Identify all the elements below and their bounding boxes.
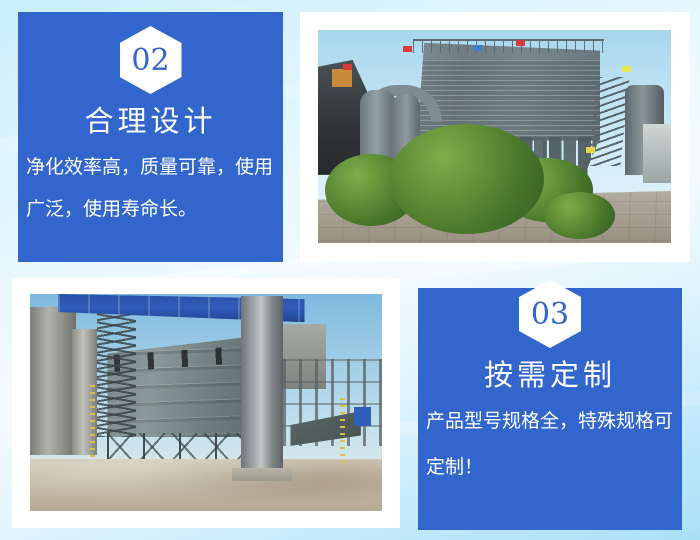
photo-flag xyxy=(516,40,525,46)
card-title: 按需定制 xyxy=(484,352,616,394)
photo-roof-railing xyxy=(413,39,604,54)
promo-banner: 02 合理设计 净化效率高，质量可靠，使用广泛，使用寿命长。 xyxy=(0,0,700,540)
card-description: 净化效率高，质量可靠，使用广泛，使用寿命长。 xyxy=(18,146,283,230)
photo-frame-bottom[interactable]: 布袋除尘器设备实拍 - 厂区内除尘器主体与灰色大烟囱 xyxy=(12,278,400,528)
card-description: 产品型号规格全，特殊规格可定制！ xyxy=(418,398,682,490)
photo-flag xyxy=(343,64,352,70)
photo-tree xyxy=(544,192,615,239)
photo-blue-tarp xyxy=(354,407,372,427)
photo-tree xyxy=(389,124,544,235)
product-photo-baghouse-exterior: 布袋除尘器设备实拍 - 蓝天下的大型袋式除尘器，前景有绿树与混凝土挡墙 xyxy=(318,30,671,243)
hexagon-badge-icon: 02 xyxy=(120,26,182,94)
hexagon-badge-icon: 03 xyxy=(519,280,581,348)
photo-ladder xyxy=(340,398,346,467)
card-title: 合理设计 xyxy=(84,98,216,140)
photo-stack-base xyxy=(232,468,292,481)
badge-number: 02 xyxy=(131,46,169,76)
photo-flag xyxy=(586,147,595,153)
feature-card-02[interactable]: 02 合理设计 净化效率高，质量可靠，使用广泛，使用寿命长。 xyxy=(18,12,283,262)
photo-flag xyxy=(622,66,631,72)
photo-stack-chimney xyxy=(241,296,283,474)
photo-frame-top[interactable]: 布袋除尘器设备实拍 - 蓝天下的大型袋式除尘器，前景有绿树与混凝土挡墙 xyxy=(300,12,690,262)
photo-ladder xyxy=(90,385,96,467)
product-photo-baghouse-plant: 布袋除尘器设备实拍 - 厂区内除尘器主体与灰色大烟囱 xyxy=(30,294,382,511)
photo-ground xyxy=(30,459,382,511)
photo-flag xyxy=(473,45,482,51)
feature-card-03[interactable]: 03 按需定制 产品型号规格全，特殊规格可定制！ xyxy=(418,288,682,530)
badge-number: 03 xyxy=(531,300,569,330)
photo-lattice-tower xyxy=(97,303,136,438)
photo-silo xyxy=(30,307,76,455)
photo-flag xyxy=(403,46,412,52)
photo-right-building xyxy=(643,124,671,184)
photo-duct-riser xyxy=(360,90,395,162)
